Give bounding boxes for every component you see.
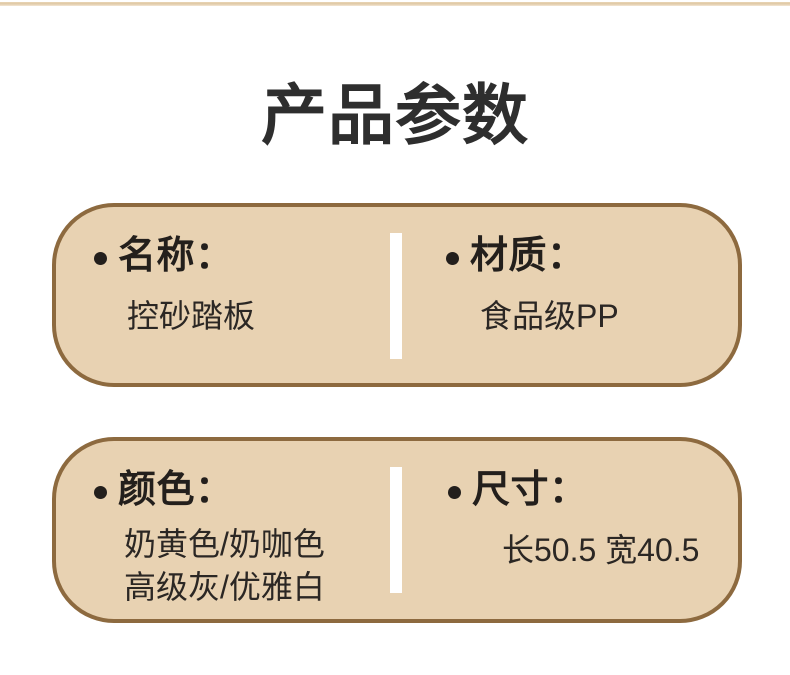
- card-column-divider: [390, 467, 402, 593]
- page-title: 产品参数: [0, 78, 790, 154]
- spec-label-text: 材质：: [470, 233, 586, 277]
- spec-label-text: 名称：: [118, 233, 234, 277]
- spec-item-name: 名称： 控砂踏板: [94, 207, 384, 383]
- spec-card-2: 颜色： 奶黄色/奶咖色 高级灰/优雅白 尺寸： 长50.5 宽40.5: [52, 437, 742, 623]
- spec-label-color: 颜色：: [94, 467, 234, 511]
- spec-label-text: 颜色：: [118, 467, 234, 511]
- spec-value-size: 长50.5 宽40.5: [502, 529, 699, 572]
- spec-item-color: 颜色： 奶黄色/奶咖色 高级灰/优雅白: [94, 441, 384, 619]
- spec-value-line: 高级灰/优雅白: [124, 566, 325, 609]
- spec-item-material: 材质： 食品级PP: [434, 207, 734, 383]
- spec-label-material: 材质：: [446, 233, 586, 277]
- bullet-dot-icon: [448, 486, 461, 499]
- bullet-dot-icon: [446, 252, 459, 265]
- spec-value-color: 奶黄色/奶咖色 高级灰/优雅白: [124, 523, 325, 609]
- card-column-divider: [390, 233, 402, 359]
- top-decorative-strip: [0, 2, 790, 6]
- spec-card-1: 名称： 控砂踏板 材质： 食品级PP: [52, 203, 742, 387]
- spec-value-material: 食品级PP: [480, 295, 619, 338]
- spec-value-line: 控砂踏板: [127, 295, 255, 338]
- bullet-dot-icon: [94, 486, 107, 499]
- spec-value-line: 长50.5 宽40.5: [502, 529, 699, 572]
- spec-value-line: 奶黄色/奶咖色: [124, 523, 325, 566]
- spec-value-name: 控砂踏板: [127, 295, 255, 338]
- spec-label-text: 尺寸：: [472, 467, 588, 511]
- spec-label-size: 尺寸：: [448, 467, 588, 511]
- spec-label-name: 名称：: [94, 233, 234, 277]
- bullet-dot-icon: [94, 252, 107, 265]
- spec-value-line: 食品级PP: [480, 295, 619, 338]
- spec-item-size: 尺寸： 长50.5 宽40.5: [434, 441, 734, 619]
